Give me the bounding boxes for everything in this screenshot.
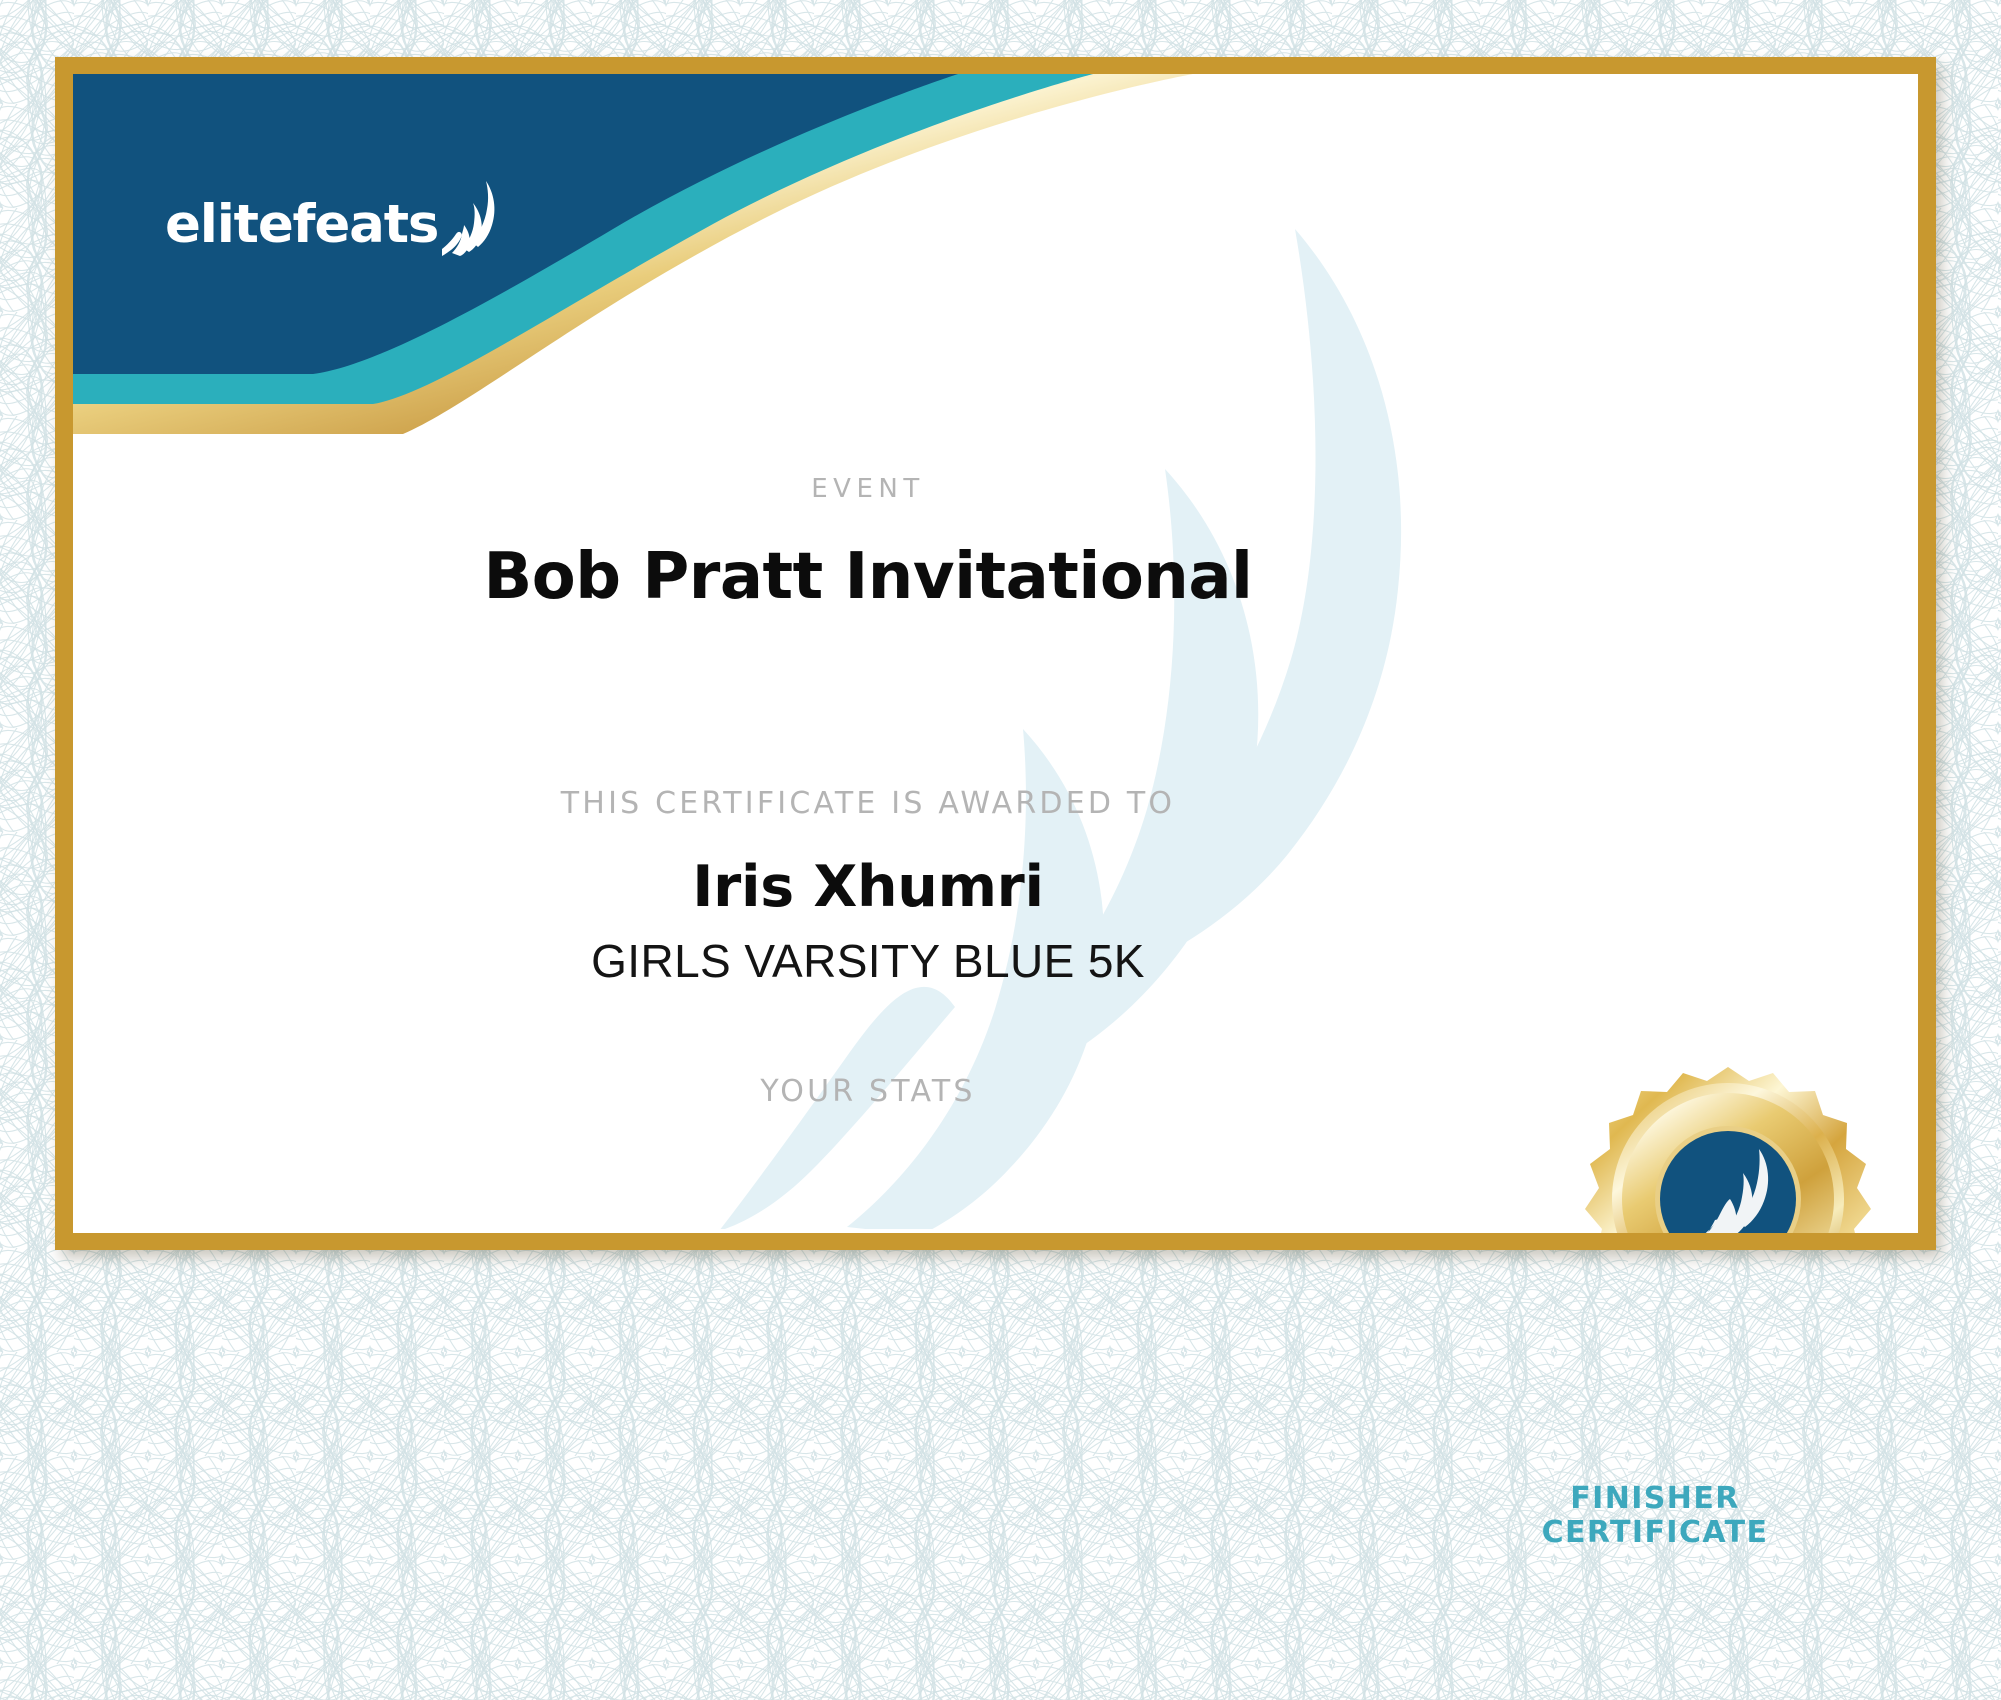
finisher-medal-seal: 2025 bbox=[1563, 1059, 1893, 1233]
recipient-name: Iris Xhumri bbox=[692, 854, 1043, 920]
certificate-content-area: elitefeats EVENT Bob Pratt Invitational bbox=[73, 74, 1918, 1233]
division-name: GIRLS VARSITY BLUE 5K bbox=[591, 935, 1145, 987]
event-label-row: EVENT bbox=[73, 474, 1663, 504]
event-label: EVENT bbox=[811, 474, 924, 504]
recipient-name-row: Iris Xhumri bbox=[73, 854, 1663, 920]
stats-list: TIME: 26:43.20 AGE GROUP PLACE: 88 of 13… bbox=[73, 1227, 1263, 1233]
certificate-plate-border: elitefeats EVENT Bob Pratt Invitational bbox=[55, 57, 1936, 1250]
event-name: Bob Pratt Invitational bbox=[484, 540, 1253, 614]
certificate-page: elitefeats EVENT Bob Pratt Invitational bbox=[0, 0, 2001, 1700]
wing-watermark-icon bbox=[553, 169, 1533, 1229]
stat-key: TIME: bbox=[989, 1227, 1087, 1233]
medal-caption-line2: CERTIFICATE bbox=[1470, 1516, 1840, 1550]
logo-wordmark: elitefeats bbox=[165, 198, 438, 251]
elitefeats-logo: elitefeats bbox=[165, 179, 506, 251]
your-stats-label: YOUR STATS bbox=[760, 1074, 975, 1109]
awarded-to-label: THIS CERTIFICATE IS AWARDED TO bbox=[561, 786, 1175, 821]
stats-label-row: YOUR STATS bbox=[73, 1074, 1663, 1109]
medal-caption-line1: FINISHER bbox=[1470, 1482, 1840, 1516]
awarded-label-row: THIS CERTIFICATE IS AWARDED TO bbox=[73, 786, 1663, 821]
event-name-row: Bob Pratt Invitational bbox=[73, 540, 1663, 614]
winged-foot-icon bbox=[442, 179, 506, 257]
division-row: GIRLS VARSITY BLUE 5K bbox=[73, 934, 1663, 988]
stat-value: 26:43.20 bbox=[1098, 1227, 1263, 1233]
medal-caption: FINISHER CERTIFICATE bbox=[1470, 1482, 1840, 1550]
stat-row: TIME: 26:43.20 bbox=[73, 1227, 1263, 1233]
